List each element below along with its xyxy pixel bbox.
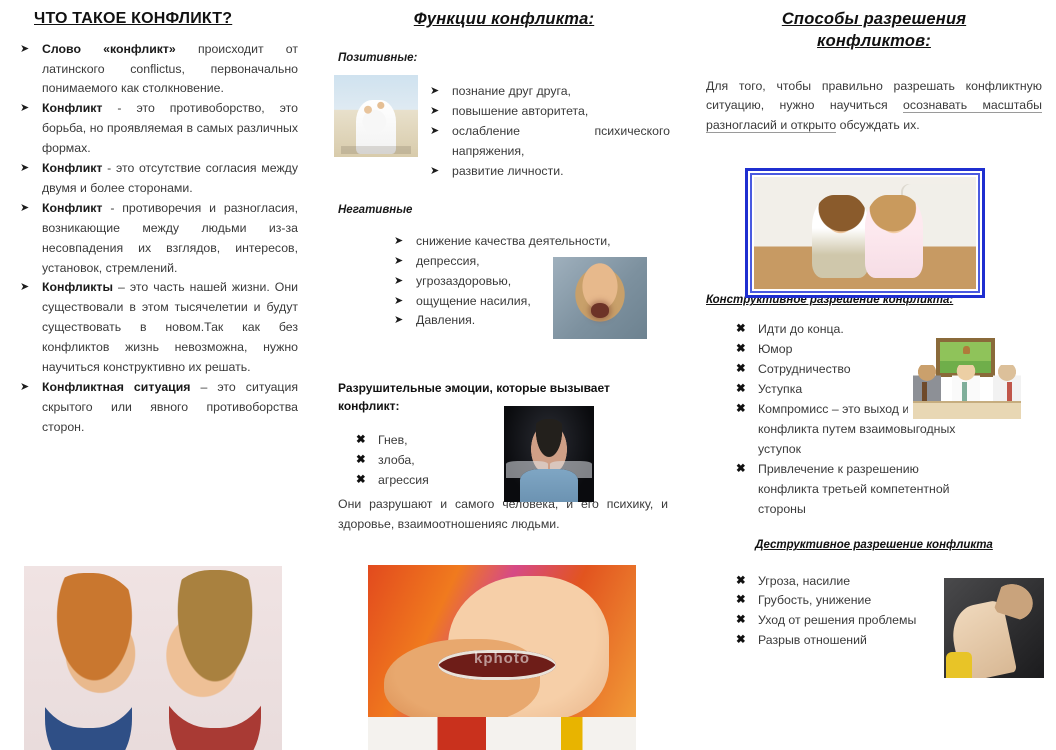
brochure-page: ЧТО ТАКОЕ КОНФЛИКТ? Слово «конфликт» про…: [0, 0, 1056, 750]
photo-family-on-beach: [334, 75, 418, 157]
illustration-two-men-shouting: kphoto: [368, 565, 636, 750]
frame-inner-border: [750, 173, 980, 293]
page-title-middle: Функции конфликта:: [338, 8, 670, 30]
list-item: Конфликт - это отсутствие согласия между…: [20, 159, 298, 199]
definition-term: Конфликтная ситуация: [42, 380, 190, 394]
list-item: Конфликтная ситуация – это ситуация скры…: [20, 378, 298, 438]
definition-text: – это часть нашей жизни. Они существовал…: [42, 280, 298, 374]
necktie-left-shape: [922, 382, 927, 401]
positive-label: Позитивные:: [338, 52, 670, 64]
list-item: снижение качества деятельности,: [394, 232, 670, 252]
list-item: Слово «конфликт» происходит от латинског…: [20, 40, 298, 100]
negative-label: Негативные: [338, 204, 670, 216]
list-item: развитие личности.: [430, 162, 670, 182]
necktie-center-shape: [962, 382, 967, 401]
person-left-shape: [913, 365, 941, 403]
intro-paragraph: Для того, чтобы правильно разрешать конф…: [706, 77, 1042, 137]
page-title-left: ЧТО ТАКОЕ КОНФЛИКТ?: [34, 8, 298, 30]
illustration-three-men-meeting: [908, 336, 1026, 422]
photo-angry-man-steam-ears: [504, 406, 594, 502]
definition-term: Слово «конфликт»: [42, 42, 176, 56]
list-item: повышение авторитета,: [430, 102, 670, 122]
intro-text-b: обсуждать их.: [836, 118, 919, 132]
definition-term: Конфликты: [42, 280, 113, 294]
definition-term: Конфликт: [42, 101, 102, 115]
sofa-shape: [901, 184, 976, 247]
page-title-right-line1: Способы разрешения: [706, 8, 1042, 30]
necktie-shape: [546, 475, 552, 502]
definition-list: Слово «конфликт» происходит от латинског…: [20, 40, 298, 438]
positive-list: познание друг друга, повышение авторитет…: [430, 82, 670, 182]
necktie-right-shape: [1007, 382, 1012, 401]
photo-two-boys-arguing: [24, 566, 282, 750]
watermark-text: kphoto: [368, 650, 636, 667]
shirt-collar-shape: [368, 717, 636, 750]
definition-term: Конфликт: [42, 161, 102, 175]
destructive-heading: Деструктивное разрешение конфликта: [706, 537, 1042, 553]
meeting-table-shape: [913, 401, 1022, 418]
photo-raised-hand-violence: [944, 578, 1044, 678]
list-item: Привлечение к разрешению конфликта треть…: [734, 460, 972, 520]
list-item: ослабление психического напряжения,: [430, 122, 670, 162]
list-item: Конфликты – это часть нашей жизни. Они с…: [20, 278, 298, 378]
photo-crying-toddler: [553, 257, 647, 339]
yellow-shirt-shape: [946, 652, 972, 678]
photo-frame-kids: [745, 168, 985, 298]
photo-two-children-back-to-back: [754, 177, 976, 289]
deer-shape: [963, 346, 970, 354]
list-item: познание друг друга,: [430, 82, 670, 102]
list-item: Конфликт - противоречия и разногласия, в…: [20, 199, 298, 279]
definition-term: Конфликт: [42, 201, 102, 215]
page-title-right-line2: конфликтов:: [706, 30, 1042, 52]
list-item: Конфликт - это противоборство, это борьб…: [20, 99, 298, 159]
emotions-note: Они разрушают и самого человека, и его п…: [338, 495, 668, 535]
